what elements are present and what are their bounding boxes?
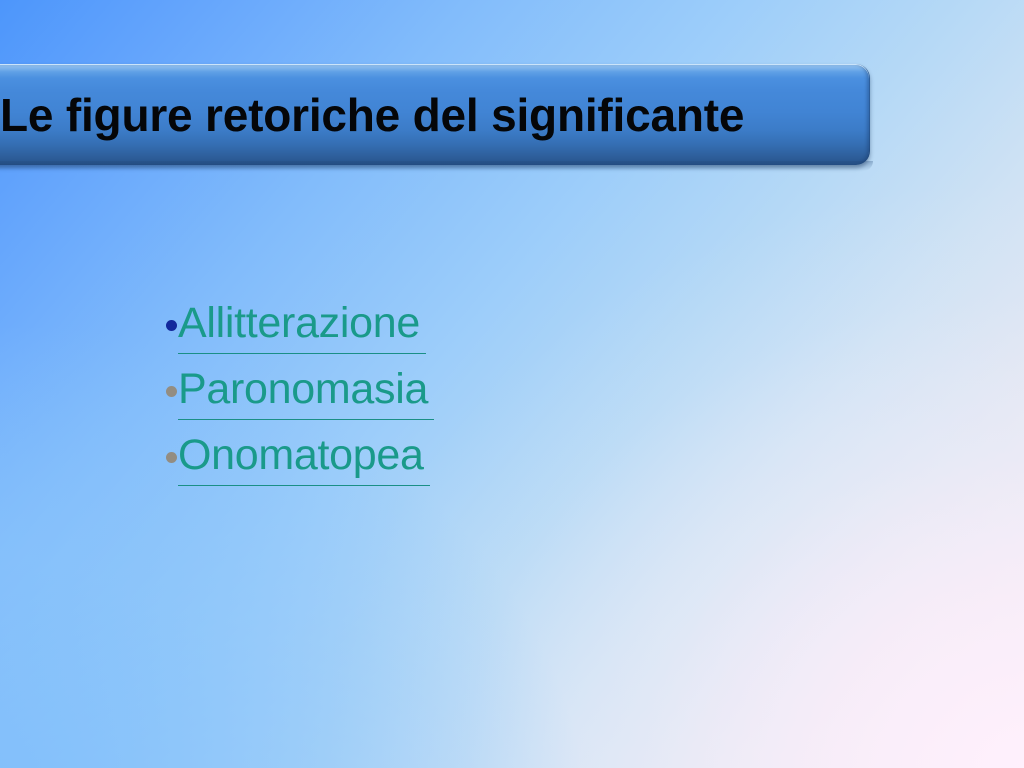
bullet-underline-rule — [178, 419, 434, 420]
bullet-item-label: Paronomasia — [178, 363, 428, 415]
bullet-list: Allitterazione Paronomasia Onomatopea — [166, 297, 726, 495]
presentation-slide: Le figure retoriche del significante All… — [0, 0, 1024, 768]
bullet-underline-rule — [178, 353, 426, 354]
bullet-item-label: Onomatopea — [178, 429, 424, 481]
bullet-underline-rule — [178, 485, 430, 486]
bullet-point-icon — [166, 386, 177, 397]
slide-title: Le figure retoriche del significante — [0, 92, 744, 138]
bullet-point-icon — [166, 452, 177, 463]
slide-title-bar: Le figure retoriche del significante — [0, 64, 870, 165]
bullet-item-label: Allitterazione — [178, 297, 420, 349]
bullet-point-icon — [166, 320, 177, 331]
